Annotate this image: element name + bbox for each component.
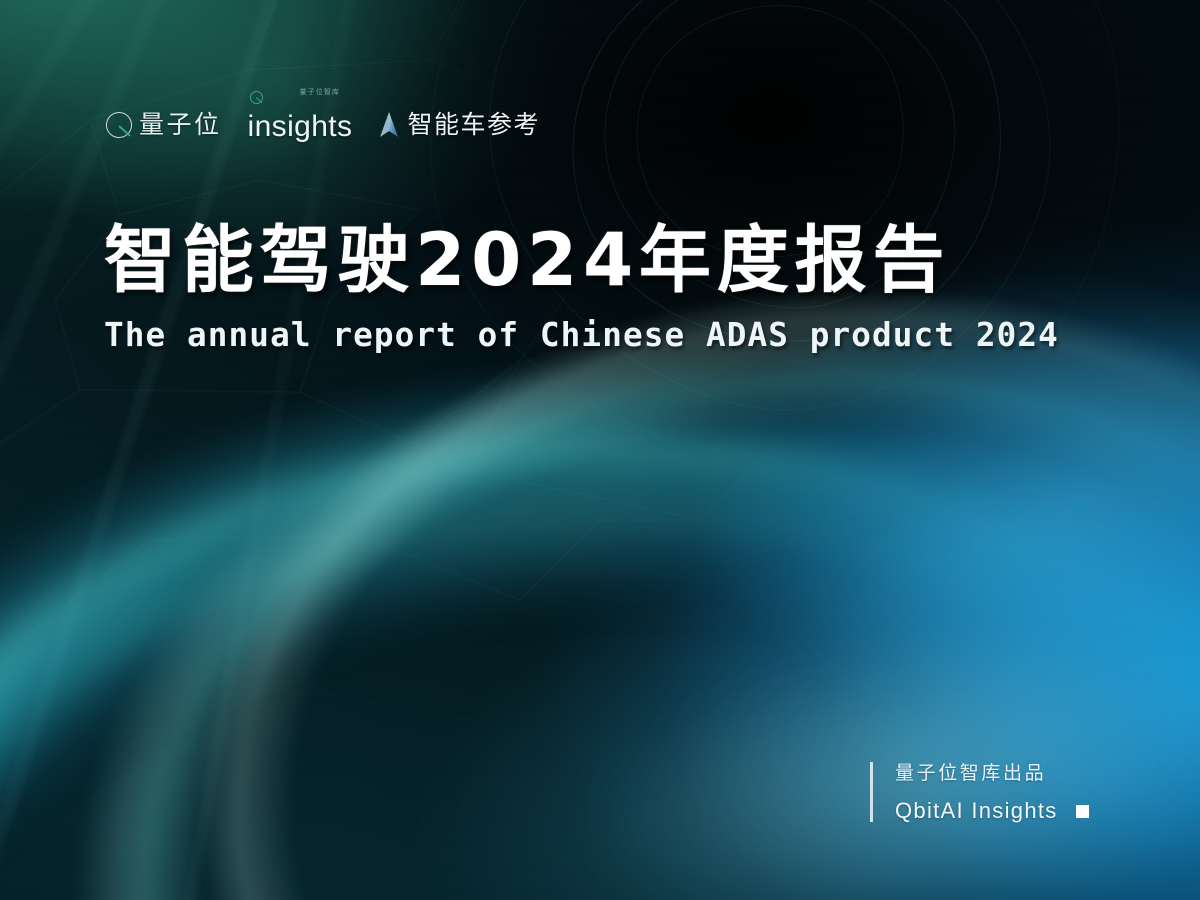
page-title: 智能驾驶2024年度报告	[104, 222, 1109, 299]
headline-block: 智能驾驶2024年度报告 The annual report of Chines…	[104, 222, 1124, 354]
credit-divider	[870, 762, 873, 822]
insights-q-icon	[250, 91, 263, 104]
credit-publisher-cn: 量子位智库出品	[895, 764, 1089, 783]
page-subtitle: The annual report of Chinese ADAS produc…	[104, 317, 1114, 353]
credit-publisher-en: QbitAI Insights	[895, 800, 1058, 822]
square-mark-icon	[1076, 805, 1089, 818]
report-cover: 量子位 量子位智库 insights	[0, 0, 1200, 900]
logo-bar: 量子位 量子位智库 insights	[106, 103, 540, 147]
credit-text: 量子位智库出品 QbitAI Insights	[895, 762, 1089, 822]
logo-smart-car-label: 智能车参考	[407, 113, 540, 138]
navigation-arrow-icon	[378, 111, 400, 139]
logo-insights-label: insights	[248, 112, 353, 142]
logo-smart-car[interactable]: 智能车参考	[378, 103, 540, 147]
logo-qbitai[interactable]: 量子位	[106, 103, 222, 147]
qbit-q-icon	[106, 112, 132, 138]
credit-publisher-row: QbitAI Insights	[895, 800, 1089, 822]
logo-insights[interactable]: 量子位智库 insights	[248, 101, 353, 149]
credit-block: 量子位智库出品 QbitAI Insights	[870, 762, 1089, 822]
cover-content: 量子位 量子位智库 insights	[0, 0, 1200, 900]
logo-qbitai-label: 量子位	[139, 113, 222, 138]
logo-insights-superscript: 量子位智库	[300, 89, 341, 96]
